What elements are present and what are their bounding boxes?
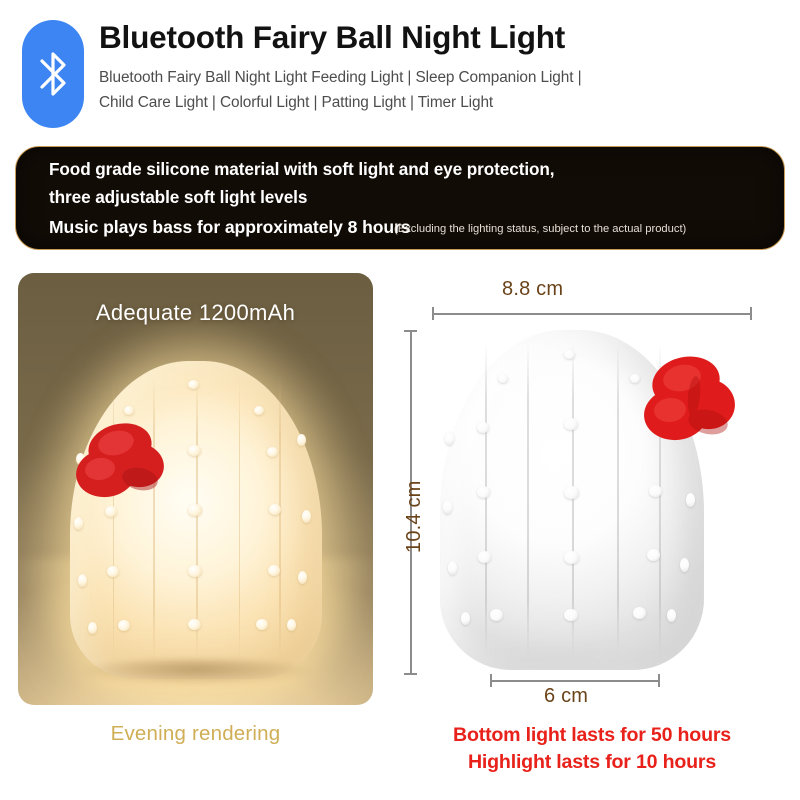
lamp-base-shadow	[80, 659, 312, 685]
base-dimension-label: 6 cm	[544, 685, 588, 708]
height-dimension-label: 10.4 cm	[403, 480, 426, 553]
evening-rendering-caption: Evening rendering	[18, 722, 373, 746]
page-header: Bluetooth Fairy Ball Night Light Bluetoo…	[0, 0, 800, 140]
feature-disclaimer-note: (Excluding the lighting status, subject …	[394, 223, 686, 235]
subtitle-block: Bluetooth Fairy Ball Night Light Feeding…	[99, 65, 789, 115]
height-tick-bottom	[404, 673, 417, 675]
red-flower-icon	[634, 352, 742, 456]
height-tick-top	[404, 330, 417, 332]
battery-capacity-label: Adequate 1200mAh	[18, 300, 373, 326]
battery-life-captions: Bottom light lasts for 50 hours Highligh…	[392, 722, 792, 776]
evening-rendering-photo: Adequate 1200mAh	[18, 273, 373, 705]
width-tick-left	[432, 307, 434, 320]
base-tick-right	[658, 674, 660, 687]
feature-line-3: Music plays bass for approximately 8 hou…	[49, 217, 410, 238]
bluetooth-badge	[22, 20, 84, 128]
dimension-diagram: 8.8 cm 10.4 cm 6 cm	[392, 273, 792, 728]
cactus-lamp-lit	[70, 361, 322, 679]
cactus-lamp-unlit	[440, 330, 704, 670]
feature-line-2: three adjustable soft light levels	[49, 187, 307, 208]
feature-line-1: Food grade silicone material with soft l…	[49, 159, 554, 180]
width-dimension-label: 8.8 cm	[502, 278, 563, 301]
page-title: Bluetooth Fairy Ball Night Light	[99, 16, 789, 58]
feature-banner: Food grade silicone material with soft l…	[15, 146, 785, 250]
red-flower-icon	[76, 421, 174, 511]
bluetooth-icon	[34, 44, 72, 104]
base-dimension-line	[490, 680, 660, 682]
battery-life-line-1: Bottom light lasts for 50 hours	[392, 722, 792, 749]
lamp-body-lit	[70, 361, 322, 679]
battery-life-line-2: Highlight lasts for 10 hours	[392, 749, 792, 776]
width-tick-right	[750, 307, 752, 320]
width-dimension-line	[432, 313, 752, 315]
title-block: Bluetooth Fairy Ball Night Light Bluetoo…	[99, 16, 789, 115]
subtitle-line-2: Child Care Light | Colorful Light | Patt…	[99, 90, 789, 115]
subtitle-line-1: Bluetooth Fairy Ball Night Light Feeding…	[99, 65, 789, 90]
base-tick-left	[490, 674, 492, 687]
